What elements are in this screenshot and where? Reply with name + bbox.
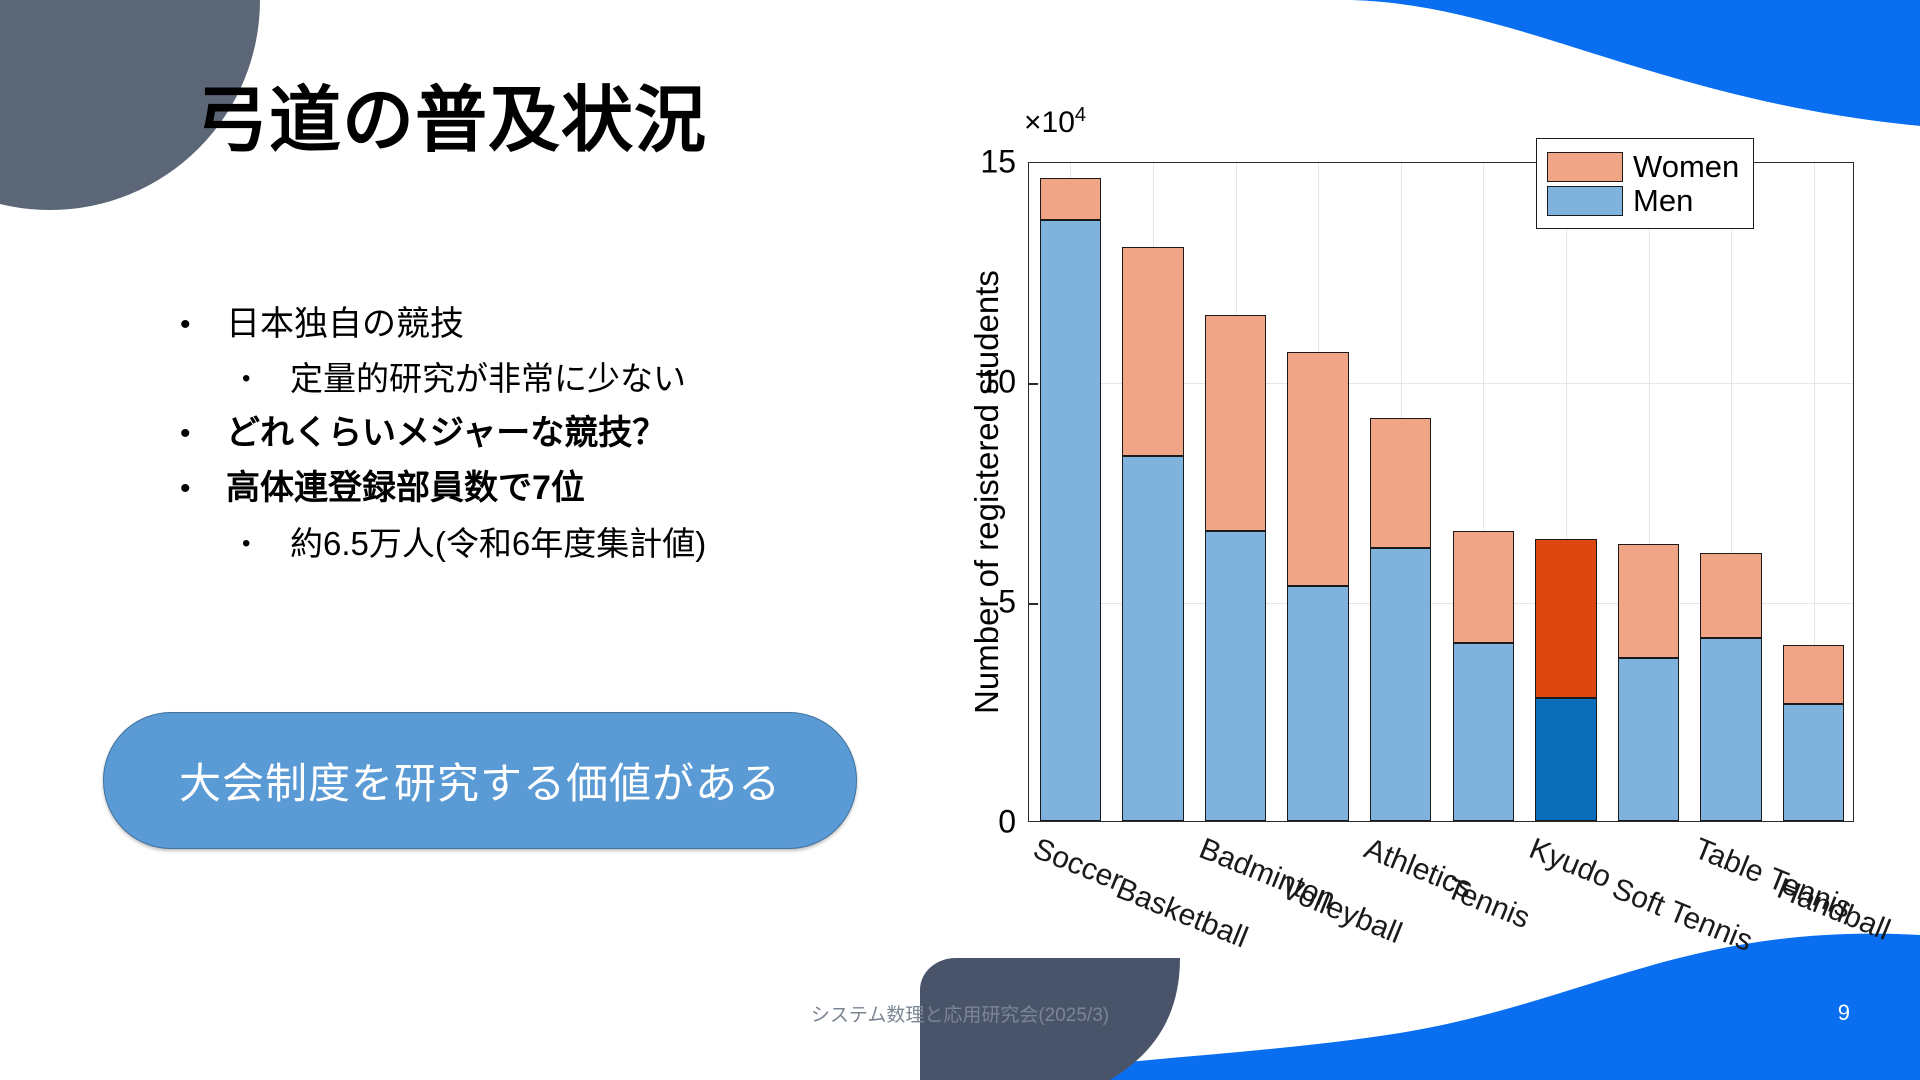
chart-bar-tennis (1453, 531, 1515, 821)
chart-x-tick-label: Basketball (1111, 872, 1252, 955)
list-item-label: 定量的研究が非常に少ない (290, 355, 686, 403)
chart-x-tick-label: Kyudo (1524, 832, 1616, 895)
chart-bar-segment-men (1122, 456, 1184, 821)
bar-chart: Number of registered students ×104 05101… (940, 110, 1900, 1010)
bullet-marker-icon: • (242, 520, 290, 556)
chart-bar-kyudo (1535, 539, 1597, 821)
chart-bar-segment-men (1535, 698, 1597, 821)
chart-bar-segment-men (1700, 638, 1762, 821)
chart-bar-segment-women (1783, 645, 1845, 704)
chart-y-tickmark (1029, 383, 1038, 385)
legend-item-men: Men (1547, 185, 1739, 216)
list-item: • 高体連登録部員数で7位 (180, 464, 880, 513)
chart-legend: Women Men (1536, 138, 1754, 229)
chart-y-tick-label: 15 (980, 144, 1016, 181)
callout-banner-label: 大会制度を研究する価値がある (179, 750, 781, 811)
page-title: 弓道の普及状況 (196, 83, 707, 161)
chart-bar-soccer (1040, 178, 1102, 821)
chart-bar-soft-tennis (1618, 544, 1680, 821)
chart-y-tick-labels: 051015 (940, 110, 1026, 870)
bullet-list: • 日本独自の競技 • 定量的研究が非常に少ない • どれくらいメジャーな競技？… (180, 300, 880, 574)
chart-x-tick-label: Handball (1772, 872, 1895, 948)
legend-label-women: Women (1633, 151, 1739, 182)
chart-plot-area (1028, 162, 1854, 822)
legend-swatch-men (1547, 186, 1623, 216)
chart-bar-segment-women (1370, 418, 1432, 548)
chart-x-tick-label: Volleyball (1276, 872, 1406, 951)
chart-bar-segment-women (1700, 553, 1762, 639)
chart-y-tickmark (1029, 603, 1038, 605)
slide-number: 9 (1838, 1000, 1850, 1026)
callout-banner: 大会制度を研究する価値がある (103, 712, 857, 849)
chart-axis-multiplier-base: ×10 (1024, 106, 1075, 139)
chart-bar-volleyball (1287, 352, 1349, 821)
chart-bar-segment-women (1453, 531, 1515, 643)
list-item: • 定量的研究が非常に少ない (180, 355, 880, 403)
chart-bar-segment-men (1618, 658, 1680, 821)
list-item: • 日本独自の競技 (180, 300, 880, 349)
list-item-label: どれくらいメジャーな競技？ (226, 409, 666, 458)
legend-swatch-women (1547, 152, 1623, 182)
list-item-label: 高体連登録部員数で7位 (226, 464, 585, 513)
chart-bar-segment-women (1535, 539, 1597, 697)
footer-note: システム数理と応用研究会(2025/3) (0, 1000, 1920, 1027)
chart-bar-segment-men (1370, 548, 1432, 821)
bullet-marker-icon: • (242, 355, 290, 391)
chart-bar-segment-men (1453, 643, 1515, 821)
list-item: • どれくらいメジャーな競技？ (180, 409, 880, 458)
chart-x-tick-labels: SoccerBasketballBadmintonVolleyballAthle… (1028, 826, 1854, 1016)
chart-bar-segment-men (1287, 586, 1349, 821)
chart-y-tick-label: 5 (998, 584, 1016, 621)
legend-item-women: Women (1547, 151, 1739, 182)
chart-bar-segment-women (1287, 352, 1349, 585)
chart-x-tick-label: Soft Tennis (1607, 872, 1757, 959)
list-item-label: 日本独自の競技 (226, 300, 464, 349)
chart-y-tick-label: 10 (980, 364, 1016, 401)
chart-y-tick-label: 0 (998, 804, 1016, 841)
chart-bar-badminton (1205, 315, 1267, 821)
chart-axis-multiplier: ×104 (1024, 104, 1086, 140)
chart-bar-segment-women (1205, 315, 1267, 531)
chart-axis-multiplier-exponent: 4 (1075, 104, 1086, 126)
chart-bar-segment-women (1040, 178, 1102, 221)
chart-x-tick-label: Tennis (1442, 872, 1535, 936)
chart-bar-segment-men (1205, 531, 1267, 821)
chart-bar-handball (1783, 645, 1845, 821)
bullet-marker-icon: • (180, 409, 226, 449)
chart-x-tick-label: Soccer (1029, 832, 1128, 899)
bullet-marker-icon: • (180, 300, 226, 340)
chart-bar-table-tennis (1700, 553, 1762, 821)
chart-bar-basketball (1122, 247, 1184, 821)
list-item-label: 約6.5万人(令和6年度集計値) (290, 520, 706, 568)
list-item: • 約6.5万人(令和6年度集計値) (180, 520, 880, 568)
chart-bar-segment-men (1040, 220, 1102, 821)
chart-bar-segment-women (1122, 247, 1184, 456)
legend-label-men: Men (1633, 185, 1693, 216)
bullet-marker-icon: • (180, 464, 226, 504)
chart-bar-segment-women (1618, 544, 1680, 658)
chart-bar-segment-men (1783, 704, 1845, 821)
chart-bar-athletics (1370, 418, 1432, 821)
